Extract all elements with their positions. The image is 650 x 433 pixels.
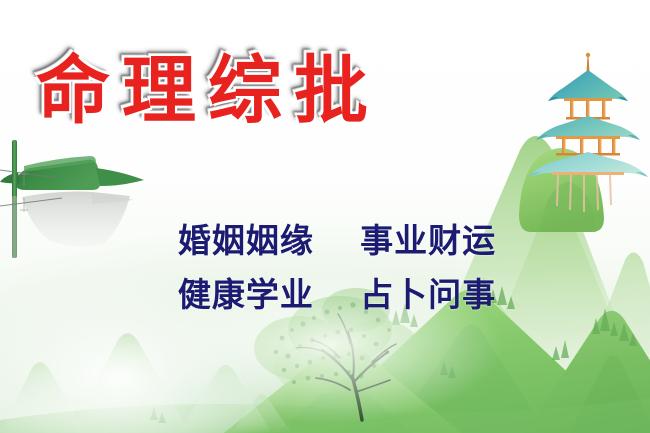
subtitle-line-1: 婚姻姻缘 事业财运	[0, 214, 650, 262]
poster-canvas: 命理综批 婚姻姻缘 事业财运 健康学业 占卜问事	[0, 0, 650, 433]
subtitle-1-left: 婚姻姻缘	[178, 222, 314, 259]
subtitle-1-right: 事业财运	[360, 222, 496, 259]
subtitle-2-right: 占卜问事	[360, 276, 496, 313]
subtitle-2-left: 健康学业	[178, 276, 314, 313]
page-title: 命理综批	[36, 54, 436, 128]
subtitle-line-2: 健康学业 占卜问事	[0, 268, 650, 316]
